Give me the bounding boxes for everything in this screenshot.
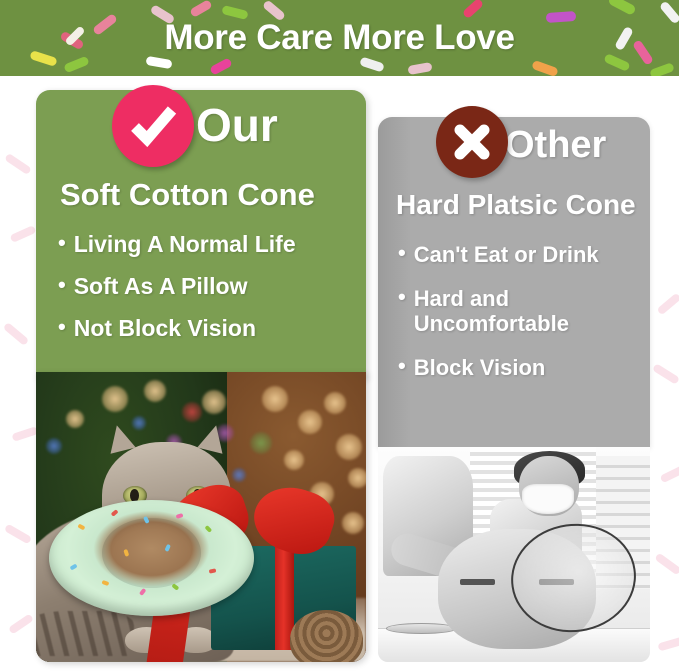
other-photo-vet-clinic: [378, 447, 650, 662]
bullet-item: •Soft As A Pillow: [58, 274, 358, 300]
bullet-item: •Living A Normal Life: [58, 232, 358, 258]
bullet-marker-icon: •: [58, 274, 66, 296]
cat-fur-stripes: [36, 611, 134, 656]
christmas-background: [36, 372, 366, 662]
bow-loop-right: [246, 477, 341, 562]
bokeh-light: [298, 410, 322, 434]
bokeh-light: [46, 438, 62, 454]
bokeh-light: [144, 380, 166, 402]
bullet-item: •Not Block Vision: [58, 316, 358, 342]
donut-sprinkle: [176, 513, 184, 519]
bokeh-light: [202, 390, 226, 414]
bullet-text: Hard and Uncomfortable: [414, 286, 646, 337]
face-mask-icon: [522, 484, 574, 514]
donut-hole: [102, 518, 200, 588]
sprinkle-shape: [9, 225, 36, 243]
donut-sprinkle: [102, 580, 110, 586]
check-icon: [112, 85, 194, 167]
donut-sprinkle: [204, 525, 211, 533]
donut-sprinkle: [139, 588, 146, 596]
donut-sprinkle: [110, 509, 118, 516]
bokeh-light: [342, 512, 364, 534]
bullet-item: •Block Vision: [398, 355, 646, 381]
bokeh-light: [348, 468, 366, 488]
sprinkle-shape: [656, 293, 679, 316]
bullet-marker-icon: •: [398, 286, 406, 308]
pine-cone: [290, 610, 363, 662]
bullet-text: Not Block Vision: [74, 316, 358, 342]
bullet-marker-icon: •: [398, 355, 406, 377]
page-title: More Care More Love: [0, 0, 679, 76]
sprinkle-shape: [11, 426, 38, 442]
bullet-marker-icon: •: [58, 316, 66, 338]
x-icon: [436, 106, 508, 178]
sprinkle-shape: [4, 153, 32, 175]
bokeh-light: [132, 416, 146, 430]
header-banner: More Care More Love: [0, 0, 679, 76]
bokeh-light: [336, 434, 362, 460]
bokeh-light: [284, 450, 304, 470]
other-heading: Other: [505, 124, 606, 167]
bokeh-light: [102, 386, 128, 412]
donut-sprinkle: [69, 563, 77, 570]
bullet-item: •Can't Eat or Drink: [398, 242, 646, 268]
our-photo-christmas-cat: [36, 372, 366, 662]
bokeh-light: [182, 402, 202, 422]
our-heading: Our: [196, 98, 278, 152]
bokeh-light: [262, 386, 288, 412]
bokeh-light: [324, 392, 346, 414]
metal-tray: [386, 623, 457, 634]
bullet-marker-icon: •: [398, 242, 406, 264]
our-subtitle: Soft Cotton Cone: [60, 177, 315, 213]
bullet-item: •Hard and Uncomfortable: [398, 286, 646, 337]
other-subtitle: Hard Platsic Cone: [396, 189, 636, 221]
sprinkle-shape: [3, 322, 30, 346]
sprinkle-shape: [4, 524, 32, 545]
vet-clinic-scene: [378, 447, 650, 662]
other-bullet-list: •Can't Eat or Drink•Hard and Uncomfortab…: [398, 242, 646, 398]
our-bullet-list: •Living A Normal Life•Soft As A Pillow•N…: [58, 232, 358, 357]
soft-donut-cone: [49, 500, 254, 616]
bokeh-light: [66, 410, 84, 428]
bullet-marker-icon: •: [58, 232, 66, 254]
donut-sprinkle: [172, 584, 180, 591]
donut-sprinkle: [77, 524, 85, 530]
bullet-text: Block Vision: [414, 355, 646, 381]
sprinkle-shape: [8, 613, 34, 634]
bullet-text: Soft As A Pillow: [74, 274, 358, 300]
bokeh-light: [250, 432, 272, 454]
sprinkle-shape: [652, 363, 679, 385]
cat-eye-left: [460, 579, 495, 585]
bullet-text: Living A Normal Life: [74, 232, 358, 258]
sprinkle-shape: [654, 553, 679, 576]
donut-sprinkle: [208, 568, 216, 573]
bullet-text: Can't Eat or Drink: [414, 242, 646, 268]
sprinkle-shape: [657, 637, 679, 652]
sprinkle-shape: [660, 465, 679, 484]
infographic-root: More Care More Love: [0, 0, 679, 671]
bokeh-light: [232, 468, 246, 482]
